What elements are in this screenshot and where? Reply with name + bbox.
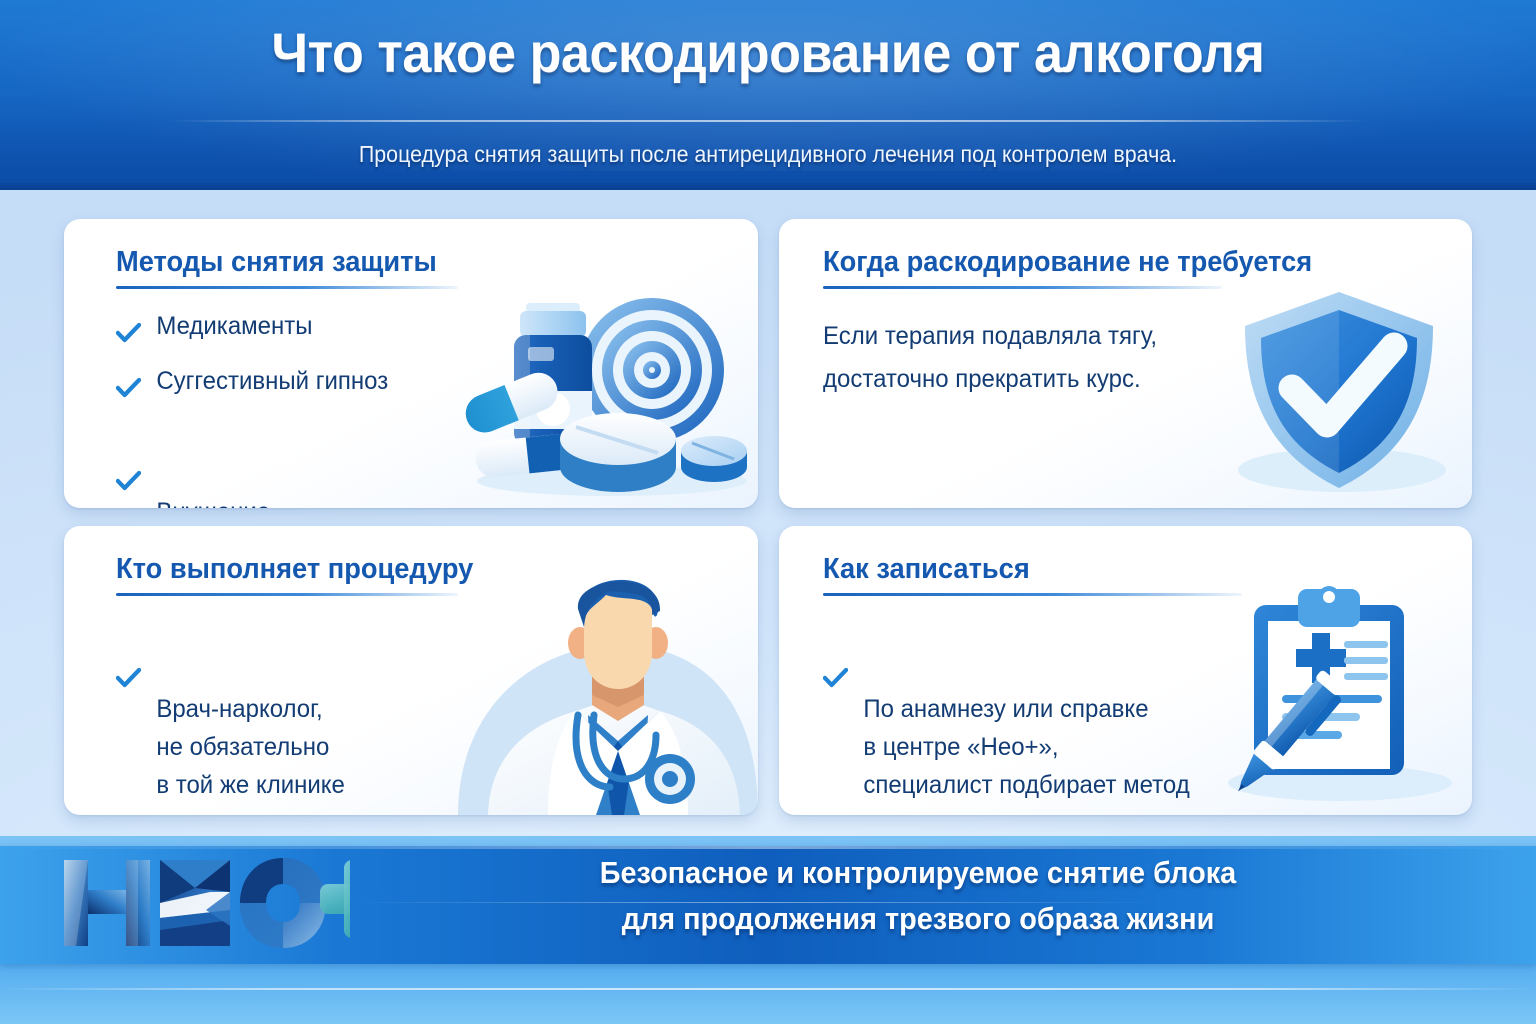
card-title-underline (116, 286, 458, 289)
card-title-underline (823, 286, 1223, 289)
card-title: Как записаться (823, 552, 1217, 586)
check-icon (823, 623, 848, 643)
cards-grid: Методы снятия защиты Медикаменты Суггест… (64, 219, 1472, 815)
card-when-not-needed[interactable]: Когда раскодирование не требуется Если т… (779, 219, 1473, 508)
list-item-label: Врач-нарколог, не обязательно в той же к… (156, 695, 345, 799)
card-list: По анамнезу или справке в центре «Нео+»,… (823, 614, 1243, 804)
check-icon (116, 426, 141, 446)
list-item: По анамнезу или справке в центре «Нео+»,… (823, 614, 1226, 804)
card-who-performs[interactable]: Кто выполняет процедуру Врач-нарколог, н… (64, 526, 758, 815)
list-item: Медикаменты (116, 307, 444, 345)
doctor-icon (428, 565, 758, 815)
logo-plus-icon (320, 860, 350, 938)
card-title-underline (823, 593, 1243, 596)
footer-bottom-divider (0, 988, 1536, 990)
page-subtitle: Процедура снятия защиты после антирециди… (54, 140, 1482, 168)
logo-letter-n (64, 860, 150, 946)
page-title: Что такое раскодирование от алкоголя (54, 22, 1482, 84)
card-paragraph: Если терапия подавляла тягу, достаточно … (823, 315, 1207, 401)
card-methods[interactable]: Методы снятия защиты Медикаменты Суггест… (64, 219, 758, 508)
list-item-label: Внушение по системе Довженко (156, 498, 396, 508)
card-title: Методы снятия защиты (116, 245, 437, 279)
card-title-underline (116, 593, 458, 596)
list-item-label: Суггестивный гипноз (156, 367, 388, 395)
infographic-poster: Что такое раскодирование от алкоголя Про… (0, 0, 1536, 1024)
card-list: Медикаменты Суггестивный гипноз Внушение… (116, 307, 458, 508)
list-item: Суггестивный гипноз (116, 362, 444, 400)
footer-tagline: Безопасное и контролируемое снятие блока… (330, 850, 1506, 942)
card-list: Врач-нарколог, не обязательно в той же к… (116, 614, 458, 804)
footer-tagline-line1: Безопасное и контролируемое снятие блока (371, 850, 1465, 896)
header-divider (168, 120, 1368, 122)
check-icon (116, 316, 141, 336)
shield-check-icon (1224, 284, 1454, 504)
list-item-label: По анамнезу или справке в центре «Нео+»,… (863, 695, 1189, 799)
logo-letter-e (160, 860, 230, 946)
clipboard-pen-icon (1212, 579, 1462, 809)
footer-tagline-divider (350, 902, 1156, 903)
list-item: Врач-нарколог, не обязательно в той же к… (116, 614, 444, 804)
card-title: Когда раскодирование не требуется (823, 245, 1199, 279)
card-how-to-book[interactable]: Как записаться По анамнезу или справке в… (779, 526, 1473, 815)
card-title: Кто выполняет процедуру (116, 552, 437, 586)
logo-letter-o (240, 858, 326, 948)
list-item-label: Медикаменты (156, 312, 312, 340)
header-band: Что такое раскодирование от алкоголя Про… (0, 0, 1536, 190)
list-item: Внушение по системе Довженко (116, 417, 444, 508)
brand-logo[interactable] (60, 848, 350, 958)
check-icon (116, 371, 141, 391)
pills-and-spiral-icon (452, 285, 752, 500)
check-icon (116, 623, 141, 643)
